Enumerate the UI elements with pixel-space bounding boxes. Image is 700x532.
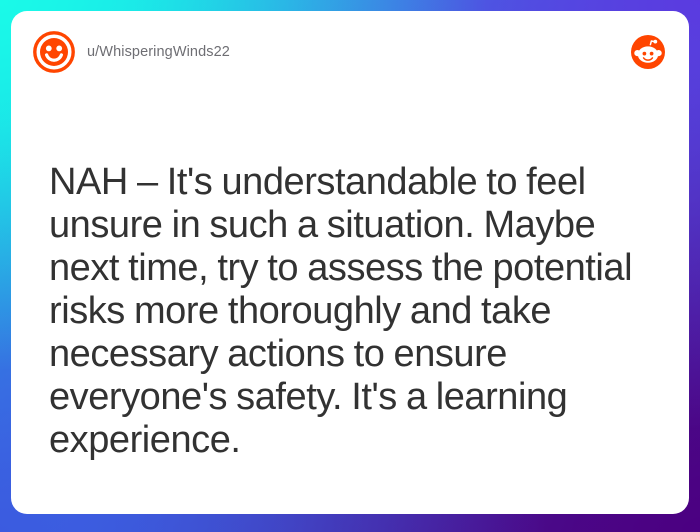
- username-label: u/WhisperingWinds22: [87, 45, 230, 60]
- card-body: NAH – It's understandable to feel unsure…: [49, 161, 655, 462]
- smiley-face-avatar-icon[interactable]: [33, 31, 75, 73]
- post-text: NAH – It's understandable to feel unsure…: [49, 161, 655, 462]
- gradient-background: u/WhisperingWinds22 NAH – It's und: [0, 0, 700, 532]
- reddit-snoo-icon[interactable]: [631, 35, 665, 69]
- reddit-comment-card: u/WhisperingWinds22 NAH – It's und: [11, 11, 689, 514]
- card-header: u/WhisperingWinds22: [11, 11, 689, 93]
- user-block[interactable]: u/WhisperingWinds22: [33, 31, 631, 73]
